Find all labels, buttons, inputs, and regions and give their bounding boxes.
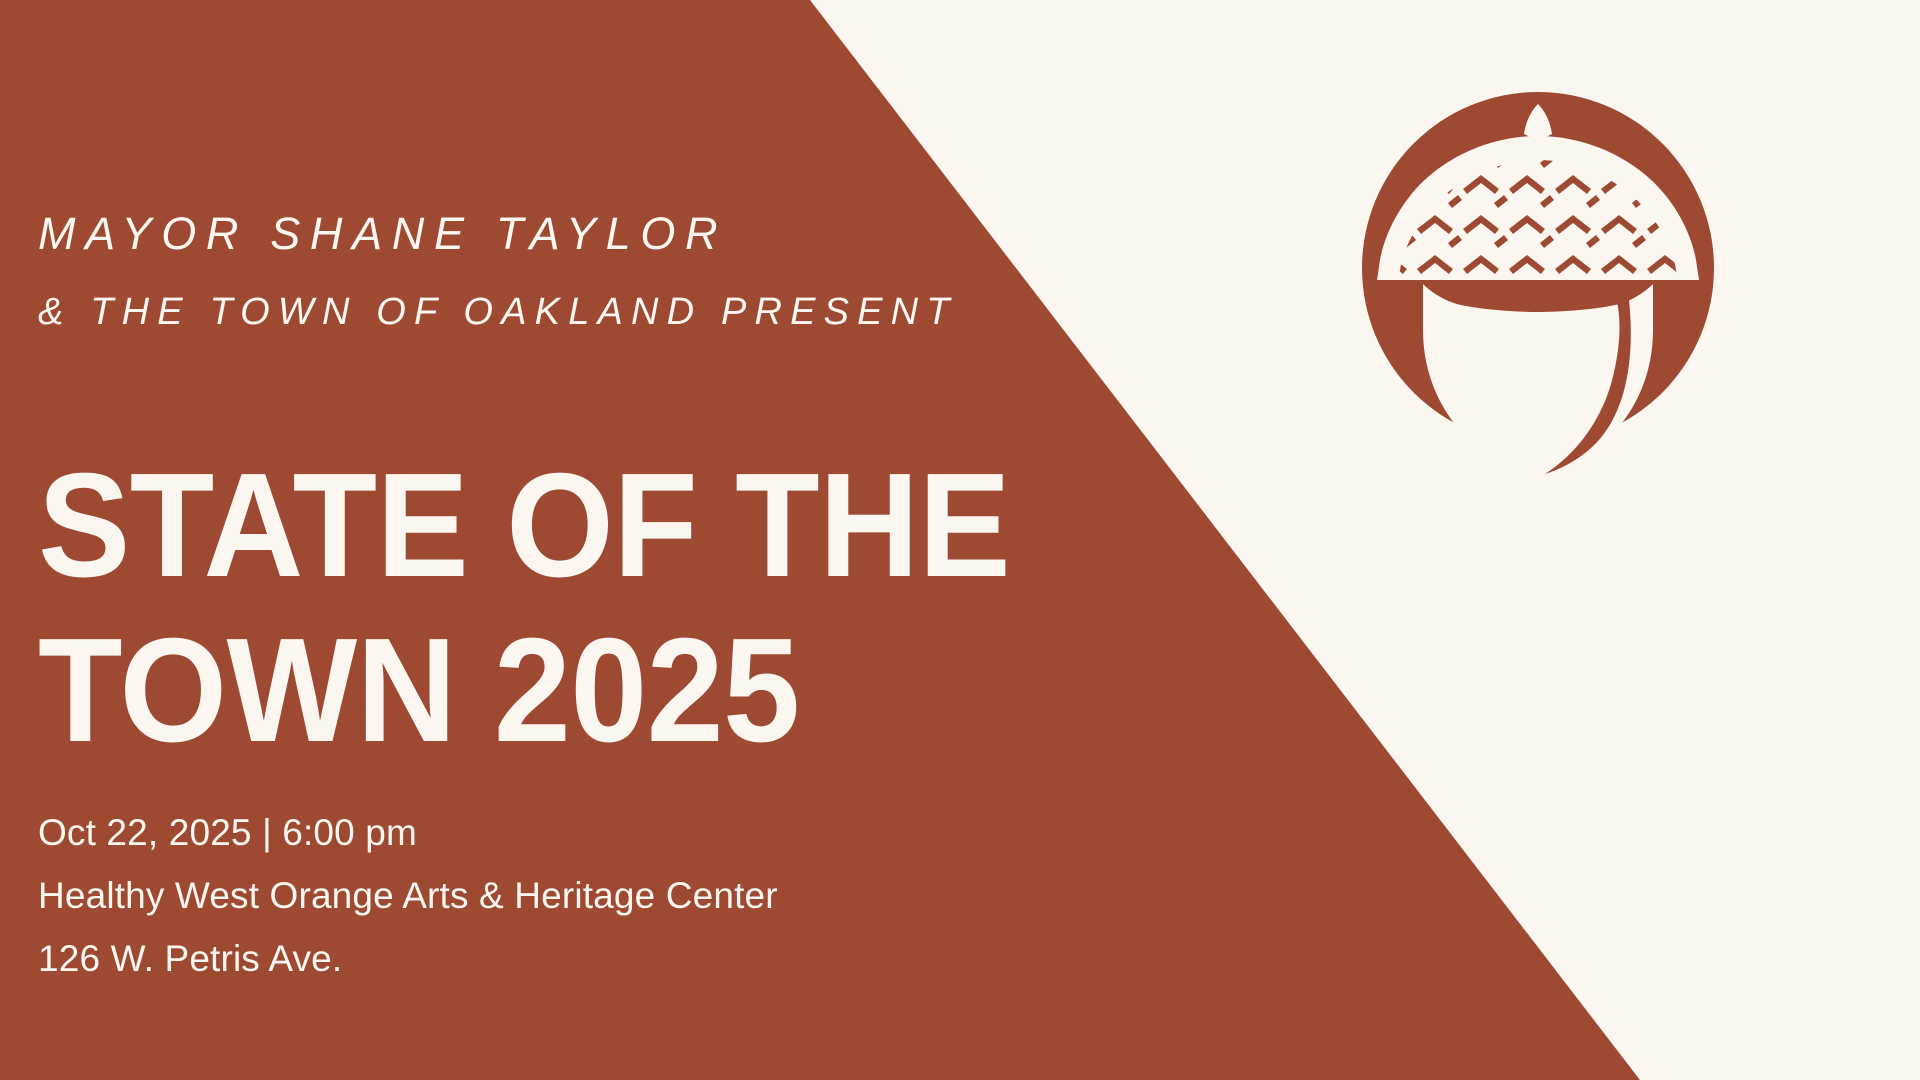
page-title-line-2: TOWN 2025: [38, 617, 800, 765]
acorn-logo: [1318, 48, 1758, 488]
event-datetime: Oct 22, 2025 | 6:00 pm: [38, 812, 417, 854]
presenter-name: MAYOR SHANE TAYLOR: [38, 208, 727, 260]
poster-text-block: MAYOR SHANE TAYLOR & THE TOWN OF OAKLAND…: [38, 0, 1218, 1080]
page-title-line-1: STATE OF THE: [38, 452, 1010, 600]
event-address: 126 W. Petris Ave.: [38, 938, 342, 980]
event-venue: Healthy West Orange Arts & Heritage Cent…: [38, 875, 778, 917]
presenter-organization: & THE TOWN OF OAKLAND PRESENT: [38, 291, 958, 334]
event-poster: MAYOR SHANE TAYLOR & THE TOWN OF OAKLAND…: [0, 0, 1920, 1080]
